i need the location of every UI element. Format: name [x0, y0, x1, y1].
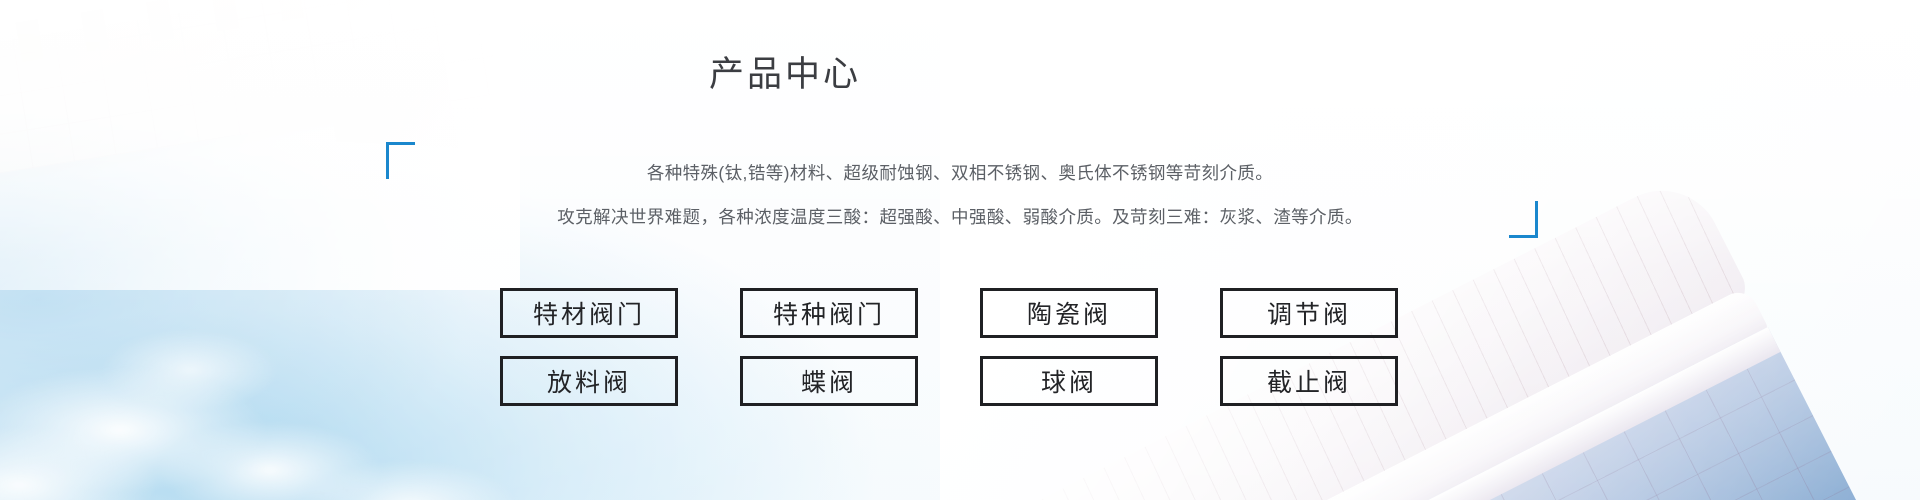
page-title: 产品中心	[0, 54, 1570, 96]
category-button-butterfly-valve[interactable]: 蝶阀	[740, 356, 918, 406]
description-line-2: 攻克解决世界难题，各种浓度温度三酸：超强酸、中强酸、弱酸介质。及苛刻三难：灰浆、…	[380, 202, 1540, 232]
product-center-banner: 产品中心 各种特殊(钛,锆等)材料、超级耐蚀钢、双相不锈钢、奥氏体不锈钢等苛刻介…	[0, 0, 1920, 500]
banner-content: 产品中心 各种特殊(钛,锆等)材料、超级耐蚀钢、双相不锈钢、奥氏体不锈钢等苛刻介…	[0, 0, 1920, 500]
category-button-techai-valve[interactable]: 特材阀门	[500, 288, 678, 338]
category-button-ball-valve[interactable]: 球阀	[980, 356, 1158, 406]
category-button-globe-valve[interactable]: 截止阀	[1220, 356, 1398, 406]
category-button-grid: 特材阀门 特种阀门 陶瓷阀 调节阀 放料阀 蝶阀 球阀 截止阀	[500, 288, 1420, 406]
category-button-control-valve[interactable]: 调节阀	[1220, 288, 1398, 338]
description-line-1: 各种特殊(钛,锆等)材料、超级耐蚀钢、双相不锈钢、奥氏体不锈钢等苛刻介质。	[380, 158, 1540, 188]
category-button-special-valve[interactable]: 特种阀门	[740, 288, 918, 338]
category-button-discharge-valve[interactable]: 放料阀	[500, 356, 678, 406]
description-block: 各种特殊(钛,锆等)材料、超级耐蚀钢、双相不锈钢、奥氏体不锈钢等苛刻介质。 攻克…	[380, 130, 1540, 236]
category-button-ceramic-valve[interactable]: 陶瓷阀	[980, 288, 1158, 338]
